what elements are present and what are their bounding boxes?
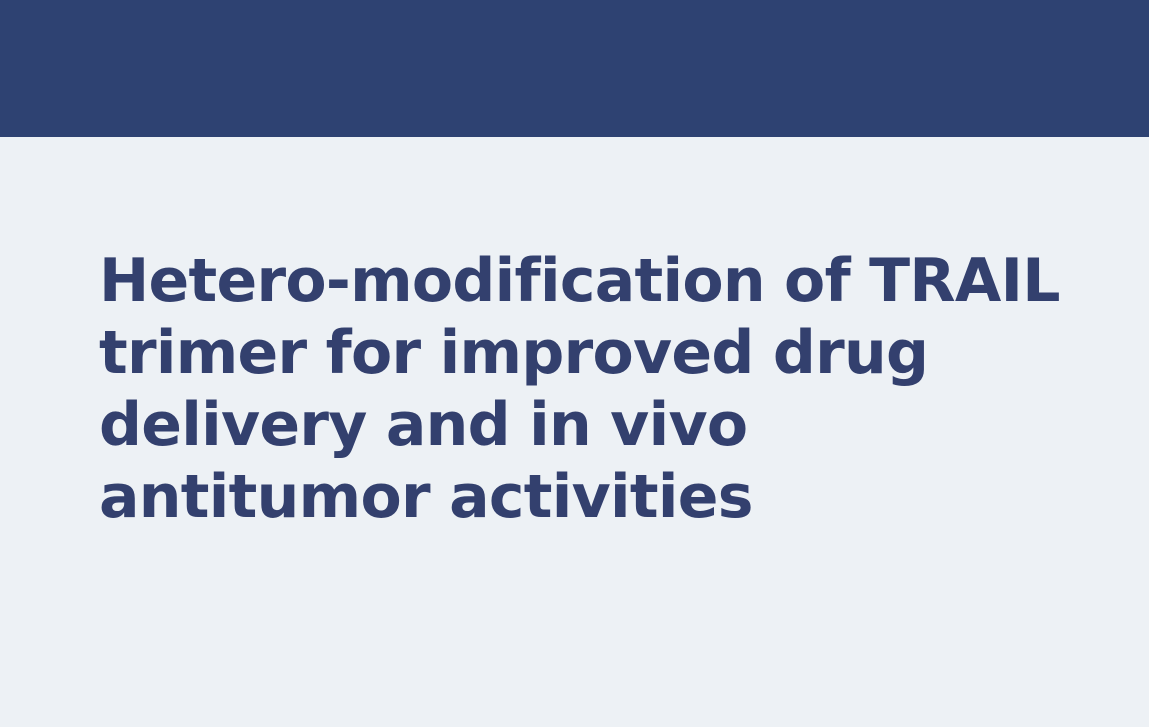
page-title: Hetero-modification of TRAIL trimer for …	[99, 245, 1084, 533]
header-band	[0, 0, 1149, 137]
title-block: Hetero-modification of TRAIL trimer for …	[99, 245, 1084, 533]
content-area: Hetero-modification of TRAIL trimer for …	[0, 137, 1149, 727]
title-card-page: Hetero-modification of TRAIL trimer for …	[0, 0, 1149, 727]
